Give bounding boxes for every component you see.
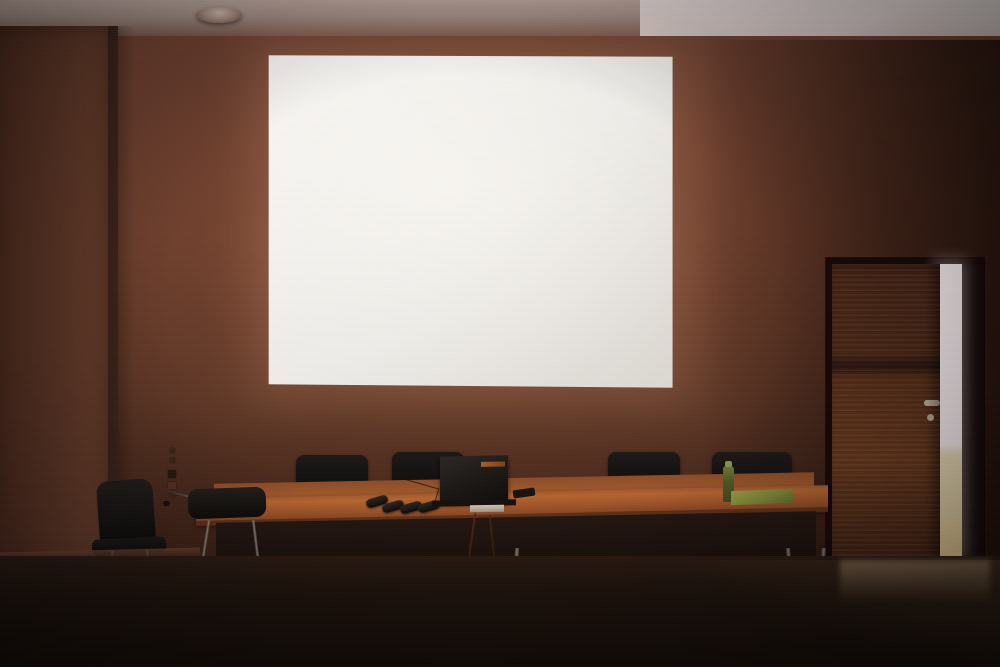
slide-years: 1939-1942 [354, 112, 422, 129]
ojcowie-konspiracji-seal-icon: OJCOWIE KONSPIRACJI ZIEMI LIMANOWSKIEJ [282, 63, 346, 127]
slide-red-banner-text: Dobra – Zapomniane serce konspiracji [291, 225, 466, 257]
door-handle-icon[interactable] [924, 400, 940, 406]
slide-title-line2: Ziemi Limanowskiej [354, 88, 604, 109]
folder[interactable] [731, 489, 793, 505]
water-bottle-cap[interactable] [725, 461, 732, 467]
figure-legs [548, 262, 566, 336]
door-wood-grain [832, 264, 940, 582]
door-lock-icon[interactable] [927, 414, 934, 421]
slide-author: Przemysław Bukowiec [283, 350, 366, 360]
wall-socket-2[interactable] [170, 458, 175, 463]
door-leaf[interactable] [832, 264, 940, 582]
photo-partisan-figure [539, 200, 578, 337]
slide-yellow-banner: Mjr Antoni Gryzina-Lasek i Związek Czynu… [281, 281, 476, 330]
chair-left-backrest [96, 478, 156, 544]
projected-slide: OJCOWIE KONSPIRACJI ZIEMI LIMANOWSKIEJ [269, 55, 673, 387]
seal-date: 1939-1942 [283, 114, 345, 119]
door-light-pool [840, 560, 990, 604]
laptop[interactable] [440, 455, 508, 502]
slide-title-line1: Ojcowie Konspiracji [354, 68, 604, 89]
conference-room-photo: OJCOWIE KONSPIRACJI ZIEMI LIMANOWSKIEJ [0, 0, 1000, 667]
wall-socket-1[interactable] [170, 448, 175, 453]
eagle-icon [296, 78, 330, 112]
slide-yellow-banner-text: Mjr Antoni Gryzina-Lasek i Związek Czynu… [288, 290, 469, 321]
slide-red-banner: Dobra – Zapomniane serce konspiracji [281, 213, 476, 270]
door-frame [826, 258, 984, 588]
laptop-badge-icon [481, 461, 505, 466]
corridor-light-gap [938, 264, 962, 554]
wall-socket-3[interactable] [168, 470, 176, 478]
slide-title: Ojcowie Konspiracji Ziemi Limanowskiej [354, 68, 604, 109]
smoke-detector-icon [196, 7, 242, 23]
paper-sheet[interactable] [470, 505, 504, 513]
chair-left-low-backrest [188, 487, 267, 520]
slide-photograph [473, 141, 623, 358]
slide-canvas: OJCOWIE KONSPIRACJI ZIEMI LIMANOWSKIEJ [269, 55, 673, 387]
